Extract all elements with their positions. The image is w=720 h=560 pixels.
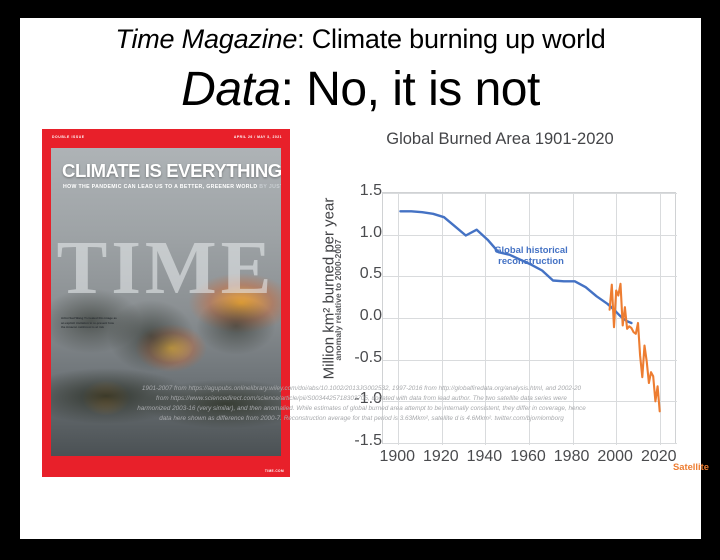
annotation-line: Global historical: [494, 244, 567, 255]
series-line-reconstruction: [400, 211, 631, 323]
gridline-horizontal: [383, 443, 677, 444]
annotation-line: reconstruction: [498, 255, 564, 266]
series-annotation-satellite: Satellite: [673, 461, 709, 472]
footnote-line: from https://www.sciencedirect.com/scien…: [34, 394, 689, 404]
cover-headline: CLIMATE IS EVERYTHING.: [62, 162, 270, 181]
cover-subhead: HOW THE PANDEMIC CAN LEAD US TO A BETTER…: [63, 184, 275, 190]
headline-secondary: Data: No, it is not: [20, 62, 701, 117]
series-annotation-reconstruction: Global historicalreconstruction: [471, 245, 591, 267]
y-tick-label: 0.0: [322, 307, 382, 325]
chart-title: Global Burned Area 1901-2020: [300, 130, 700, 149]
y-tick-label: 1.0: [322, 224, 382, 242]
footnote-line: harmonized 2003-16 (very similar), and t…: [34, 404, 689, 414]
y-tick-label: 1.5: [322, 182, 382, 200]
cover-byline: BY JUSTIN WORLAND: [259, 184, 281, 190]
headline-secondary-emphasis: Data: [181, 63, 280, 116]
source-footnote: 1901-2007 from https://agupubs.onlinelib…: [34, 384, 689, 424]
headline-primary-rest: : Climate burning up world: [297, 24, 605, 54]
cover-barcode-label: TIME.COM: [265, 469, 284, 473]
y-tick-label: -0.5: [322, 349, 382, 367]
footnote-line: 1901-2007 from https://agupubs.onlinelib…: [34, 384, 689, 394]
slide-canvas: Time Magazine: Climate burning up world …: [20, 18, 701, 539]
time-magazine-cover: DOUBLE ISSUE APRIL 26 / MAY 3, 2021 TIME…: [42, 129, 290, 477]
cover-issue-label: DOUBLE ISSUE: [52, 135, 85, 139]
headline-primary-emphasis: Time Magazine: [115, 24, 297, 54]
headline-secondary-rest: : No, it is not: [281, 63, 540, 116]
cover-date-label: APRIL 26 / MAY 3, 2021: [234, 135, 282, 139]
burned-area-chart: Global Burned Area 1901-2020 Million km²…: [300, 130, 700, 490]
footnote-line: data here shown as difference from 2000-…: [34, 414, 689, 424]
y-tick-label: 0.5: [322, 265, 382, 283]
cover-photo-caption: Artist Sad Wang Yi created this image as…: [61, 316, 117, 330]
cover-subhead-text: HOW THE PANDEMIC CAN LEAD US TO A BETTER…: [63, 184, 257, 190]
headline-primary: Time Magazine: Climate burning up world: [20, 24, 701, 55]
cover-masthead: TIME: [51, 230, 281, 306]
